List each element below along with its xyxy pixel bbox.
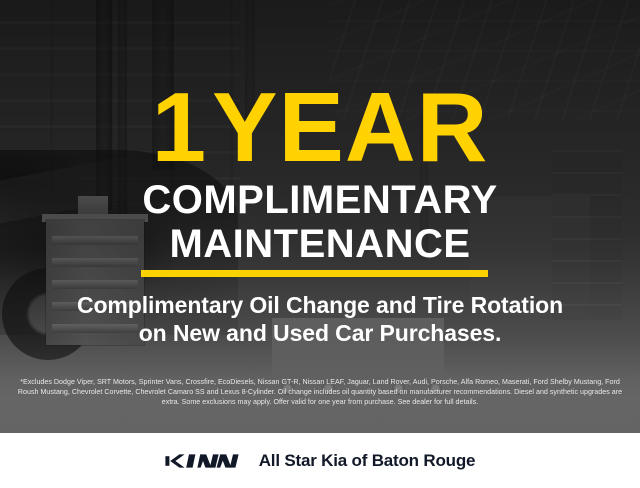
- offer-line-2: on New and Used Car Purchases.: [0, 319, 640, 347]
- dealer-footer-bar: All Star Kia of Baton Rouge: [0, 433, 640, 488]
- headline-line-maintenance: MAINTENANCE: [0, 224, 640, 264]
- dealer-name: All Star Kia of Baton Rouge: [259, 451, 476, 471]
- offer-description: Complimentary Oil Change and Tire Rotati…: [0, 291, 640, 347]
- headline-duration: 1YEAR: [0, 78, 640, 176]
- yellow-divider-rule: [141, 270, 488, 277]
- kia-logo: [165, 451, 239, 471]
- headline-number: 1: [152, 72, 213, 182]
- service-promo-banner: 1YEAR COMPLIMENTARY MAINTENANCE Complime…: [0, 0, 640, 488]
- offer-line-1: Complimentary Oil Change and Tire Rotati…: [0, 291, 640, 319]
- promo-copy-group: 1YEAR COMPLIMENTARY MAINTENANCE Complime…: [0, 0, 640, 433]
- headline-line-complimentary: COMPLIMENTARY: [0, 180, 640, 220]
- dealer-branding: All Star Kia of Baton Rouge: [165, 451, 476, 471]
- headline-unit: YEAR: [212, 72, 488, 182]
- legal-disclaimer: *Excludes Dodge Viper, SRT Motors, Sprin…: [14, 377, 626, 408]
